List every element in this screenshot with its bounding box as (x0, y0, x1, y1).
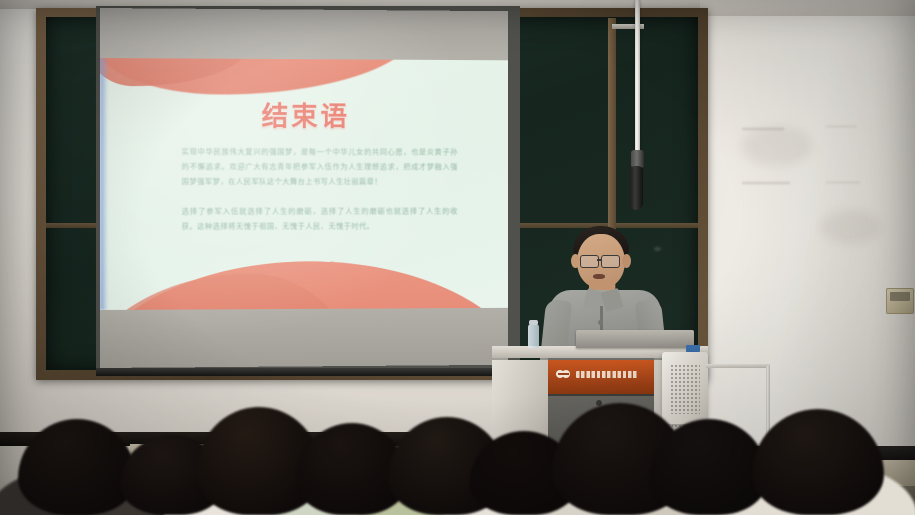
institution-emblem-icon (556, 370, 571, 379)
laptop (576, 330, 694, 348)
bottle-cap (529, 320, 538, 325)
wall-smudge (742, 126, 812, 166)
screen-bottom-bar (96, 368, 520, 376)
screen-top-area (100, 8, 508, 60)
microphone-icon (630, 166, 643, 210)
panel-window (890, 292, 910, 301)
presenter-ear-left (571, 254, 580, 268)
slide-paragraph-1: 实现中华民族伟大复兴的强国梦，是每一个中华儿女的共同心愿，也是炎黄子孙的不懈追求… (182, 144, 458, 189)
speaker-tag (686, 345, 700, 352)
screen-bottom-area (100, 308, 508, 368)
wall-crack (826, 126, 856, 127)
projection-screen: 结束语 实现中华民族伟大复兴的强国梦，是每一个中华儿女的共同心愿，也是炎黄子孙的… (100, 8, 508, 368)
slide-title: 结束语 (100, 94, 508, 134)
glasses-icon (601, 255, 620, 268)
speaker-grille (670, 364, 700, 414)
electrical-panel (886, 288, 914, 314)
lectern-nameplate-text (576, 371, 638, 378)
wall-crack (826, 182, 860, 183)
presenter-mouth (593, 274, 605, 279)
presentation-slide: 结束语 实现中华民族伟大复兴的强国梦，是每一个中华儿女的共同心愿，也是炎黄子孙的… (100, 58, 508, 310)
lectern-seam (548, 394, 654, 396)
lecture-hall-photo: 结束语 实现中华民族伟大复兴的强国梦，是每一个中华儿女的共同心愿，也是炎黄子孙的… (0, 0, 915, 515)
ceiling-beam-right (690, 0, 915, 16)
glasses-bridge (597, 259, 602, 261)
polo-button (598, 320, 603, 325)
wall-crack (742, 128, 784, 130)
slide-paragraph-2: 选择了参军入伍就选择了人生的磨砺，选择了人生的磨砺也就选择了人生的收获。这种选择… (182, 204, 458, 234)
wall-rail (706, 364, 770, 368)
water-bottle (528, 324, 539, 348)
microphone-pole (635, 0, 640, 160)
glasses-icon (580, 255, 599, 268)
speaker-cabinet (662, 352, 708, 424)
wall-smudge (820, 210, 880, 244)
wall-crack (742, 182, 790, 184)
presenter-ear-right (622, 254, 631, 268)
slide-body: 实现中华民族伟大复兴的强国梦，是每一个中华儿女的共同心愿，也是炎黄子孙的不懈追求… (182, 144, 458, 249)
